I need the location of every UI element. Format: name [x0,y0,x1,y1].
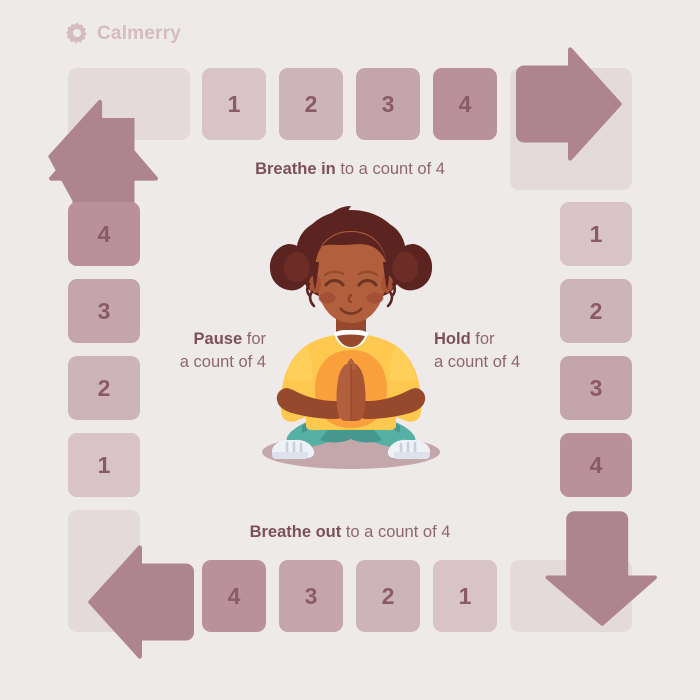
breathe-out-count-2: 2 [356,560,420,632]
brand-logo: Calmerry [66,22,181,44]
arrow-up-icon [47,95,161,213]
breathe-out-rest: to a count of 4 [341,523,450,541]
brand-name: Calmerry [97,24,181,43]
breathe-in-label: Breathe in to a count of 4 [175,158,525,181]
hold-count-3: 3 [560,356,632,420]
hold-count-1: 1 [560,202,632,266]
pause-count-1: 1 [68,433,140,497]
pause-count-2: 2 [68,356,140,420]
cheek-right [367,293,384,304]
flower-star-icon [66,22,88,44]
breathe-in-count-2: 2 [279,68,343,140]
breathe-out-count-4: 4 [202,560,266,632]
breathe-in-count-1: 1 [202,68,266,140]
box-breathing-infographic: Calmerry 1 2 3 4 Breathe in to a count o… [0,0,700,700]
breathe-in-rest: to a count of 4 [336,160,445,178]
hold-count-4: 4 [560,433,632,497]
pause-strong: Pause [194,330,243,348]
breathe-in-strong: Breathe in [255,160,336,178]
sleeve-left [286,345,312,381]
sleeve-right [390,345,416,381]
hold-count-2: 2 [560,279,632,343]
meditating-girl-illustration [248,200,454,476]
arrow-down-icon [545,508,659,626]
breathe-out-count-3: 3 [279,560,343,632]
hold-rest: for [471,330,495,348]
breathe-out-label: Breathe out to a count of 4 [175,521,525,544]
breathe-in-count-4: 4 [433,68,497,140]
breathe-in-count-3: 3 [356,68,420,140]
breathe-out-count-1: 1 [433,560,497,632]
arrow-right-icon [508,47,626,161]
arrow-left-icon [84,545,202,659]
pause-count-4: 4 [68,202,140,266]
cheek-left [319,293,336,304]
breathe-out-strong: Breathe out [250,523,342,541]
pause-count-3: 3 [68,279,140,343]
